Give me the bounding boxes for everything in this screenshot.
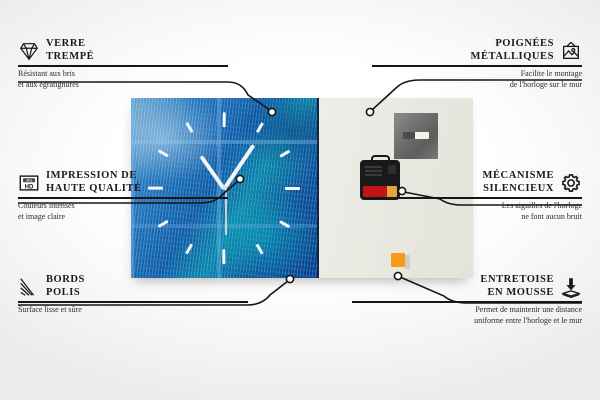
callout-subtitle-line-2: ne font aucun bruit (370, 212, 582, 223)
clock-tick (223, 112, 226, 127)
callout-subtitle-line-2: et image claire (18, 212, 230, 223)
callout-title: VERRE TREMPÉ (46, 38, 94, 63)
callout-title: BORDS POLIS (46, 274, 85, 299)
callout-rule (372, 65, 582, 67)
callout-subtitle-line-1: Facilite le montage (370, 69, 582, 80)
callout-subtitle-line-2: de l'horloge sur le mur (370, 80, 582, 91)
foam-spacer (391, 253, 405, 267)
callout-header: MÉCANISME SILENCIEUX (370, 170, 582, 195)
callout-verre-trempe: VERRE TREMPÉ Résistant aux bris et aux é… (18, 38, 230, 90)
callout-rule (352, 301, 582, 303)
callout-bords-polis: BORDS POLIS Surface lisse et sûre (18, 274, 250, 316)
callout-entretoise-en-mousse: ENTRETOISE EN MOUSSE Permet de maintenir… (350, 274, 582, 326)
callout-poignees-metalliques: POIGNÉES MÉTALLIQUES Facilite le montage… (370, 38, 582, 90)
clock-tick (285, 187, 300, 190)
callout-rule (18, 197, 228, 199)
callout-title: MÉCANISME SILENCIEUX (483, 170, 554, 195)
callout-header: VERRE TREMPÉ (18, 38, 230, 63)
callout-title: POIGNÉES MÉTALLIQUES (471, 38, 554, 63)
infographic-canvas: VERRE TREMPÉ Résistant aux bris et aux é… (0, 0, 600, 400)
callout-subtitle-line-2: uniforme entre l'horloge et le mur (350, 316, 582, 327)
callout-mecanisme-silencieux: MÉCANISME SILENCIEUX Les aiguilles de l'… (370, 170, 582, 222)
callout-title: ENTRETOISE EN MOUSSE (480, 274, 554, 299)
callout-subtitle-line-1: Permet de maintenir une distance (350, 305, 582, 316)
foam-spacer-shadow (405, 255, 410, 269)
hatched-edge-icon (18, 276, 40, 298)
callout-subtitle-line-2: et aux égratignures (18, 80, 230, 91)
callout-subtitle-line-1: Les aiguilles de l'horloge (370, 201, 582, 212)
callout-rule (18, 301, 248, 303)
callout-rule (372, 197, 582, 199)
callout-header: ENTRETOISE EN MOUSSE (350, 274, 582, 299)
press-down-foam-icon (560, 276, 582, 298)
gear-icon (560, 172, 582, 194)
callout-header: ultra HD IMPRESSION DE HAUTE QUALITÉ (18, 170, 230, 195)
metal-hanger-plate (394, 113, 438, 159)
diamond-icon (18, 40, 40, 62)
callout-subtitle-line-1: Résistant aux bris (18, 69, 230, 80)
hanging-frame-icon (560, 40, 582, 62)
movement-hook-tab (371, 155, 390, 165)
callout-header: BORDS POLIS (18, 274, 250, 299)
callout-subtitle-line-1: Surface lisse et sûre (18, 305, 250, 316)
callout-title: IMPRESSION DE HAUTE QUALITÉ (46, 170, 142, 195)
clock-tick (223, 249, 226, 264)
svg-text:HD: HD (25, 184, 34, 190)
callout-impression-haute-qualite: ultra HD IMPRESSION DE HAUTE QUALITÉ Cou… (18, 170, 230, 222)
svg-text:ultra: ultra (26, 178, 33, 182)
ultra-hd-icon: ultra HD (18, 172, 40, 194)
callout-subtitle-line-1: Couleurs intenses (18, 201, 230, 212)
hanger-keyhole-slot (403, 132, 429, 139)
callout-rule (18, 65, 228, 67)
callout-header: POIGNÉES MÉTALLIQUES (370, 38, 582, 63)
